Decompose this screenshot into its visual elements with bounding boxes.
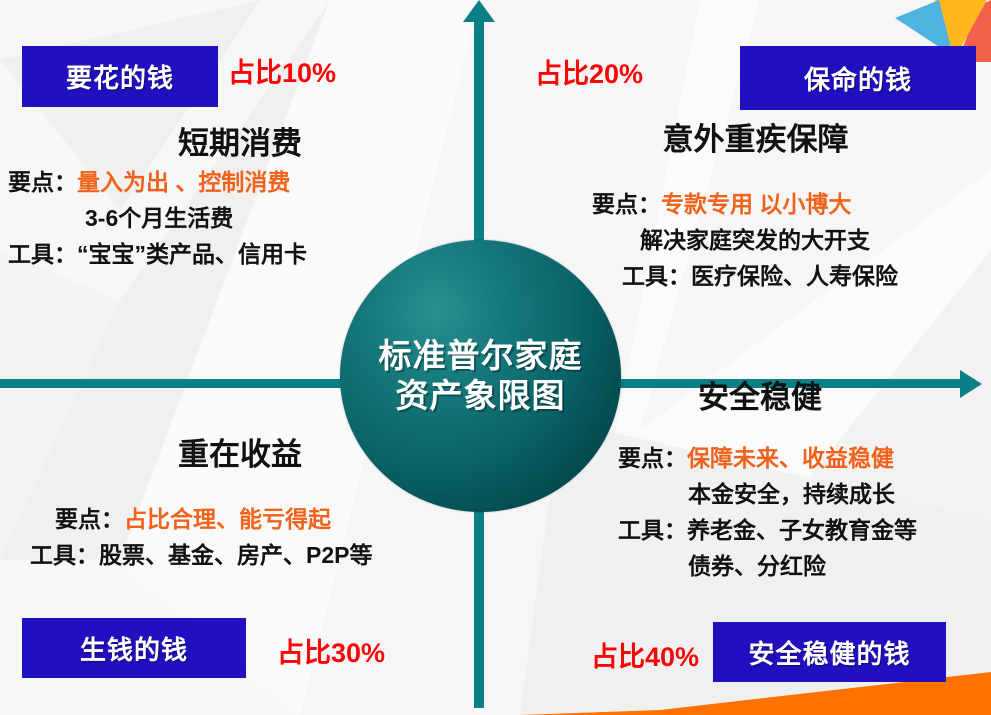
row-label: 要点： bbox=[618, 445, 687, 471]
row-value: 养老金、子女教育金等 bbox=[687, 517, 917, 543]
row-label: 工具： bbox=[8, 241, 77, 267]
quadrant-row: 要点：占比合理、能亏得起 bbox=[0, 501, 470, 537]
center-title-line2: 资产象限图 bbox=[396, 376, 566, 416]
slide-canvas: 要花的钱 占比10% 短期消费 要点：量入为出 、控制消费 3-6个月生活费 工… bbox=[0, 0, 991, 715]
badge-bottom-left[interactable]: 生钱的钱 bbox=[22, 618, 246, 678]
row-label: 要点： bbox=[8, 169, 77, 195]
quadrant-row: 工具：养老金、子女教育金等 bbox=[500, 512, 991, 548]
quadrant-row: 债券、分红险 bbox=[500, 548, 991, 584]
quadrant-title-top-left: 短期消费 bbox=[0, 124, 470, 164]
quadrant-row: 解决家庭突发的大开支 bbox=[500, 222, 991, 258]
quadrant-row: 要点：专款专用 以小博大 bbox=[500, 186, 991, 222]
row-value: 医疗保险、人寿保险 bbox=[691, 263, 898, 289]
row-label: 工具： bbox=[622, 263, 691, 289]
badge-top-left[interactable]: 要花的钱 bbox=[22, 46, 218, 107]
row-label: 要点： bbox=[55, 506, 124, 532]
center-sphere: 标准普尔家庭 资产象限图 bbox=[340, 240, 621, 512]
quadrant-top-right: 意外重疾保障 要点：专款专用 以小博大 解决家庭突发的大开支 工具：医疗保险、人… bbox=[500, 120, 991, 294]
quadrant-row: 3-6个月生活费 bbox=[0, 200, 470, 236]
row-value: 本金安全，持续成长 bbox=[688, 481, 895, 507]
row-value: 3-6个月生活费 bbox=[85, 205, 233, 231]
row-label: 工具： bbox=[30, 542, 99, 568]
percent-bottom-left: 占比30% bbox=[277, 631, 385, 670]
row-value: 专款专用 以小博大 bbox=[661, 191, 851, 217]
row-label: 要点： bbox=[592, 191, 661, 217]
row-value: “宝宝”类产品、信用卡 bbox=[77, 241, 307, 267]
row-value: 债券、分红险 bbox=[688, 553, 826, 579]
quadrant-top-left: 短期消费 要点：量入为出 、控制消费 3-6个月生活费 工具：“宝宝”类产品、信… bbox=[0, 124, 470, 272]
percent-top-right: 占比20% bbox=[535, 52, 643, 91]
percent-bottom-right: 占比40% bbox=[591, 635, 699, 674]
quadrant-row: 工具：股票、基金、房产、P2P等 bbox=[0, 537, 470, 573]
row-value: 占比合理、能亏得起 bbox=[124, 506, 331, 532]
row-value: 保障未来、收益稳健 bbox=[687, 445, 894, 471]
percent-top-left: 占比10% bbox=[228, 51, 336, 90]
quadrant-title-top-right: 意外重疾保障 bbox=[500, 120, 991, 160]
quadrant-row: 本金安全，持续成长 bbox=[500, 476, 991, 512]
row-value: 股票、基金、房产、P2P等 bbox=[99, 542, 372, 568]
row-label: 工具： bbox=[618, 517, 687, 543]
badge-bottom-right[interactable]: 安全稳健的钱 bbox=[713, 622, 946, 682]
row-value: 解决家庭突发的大开支 bbox=[640, 227, 870, 253]
quadrant-row: 要点：量入为出 、控制消费 bbox=[0, 164, 470, 200]
badge-top-right[interactable]: 保命的钱 bbox=[740, 46, 976, 110]
vertical-axis-arrow-icon bbox=[463, 0, 495, 22]
center-title-line1: 标准普尔家庭 bbox=[379, 336, 583, 376]
row-value: 量入为出 、控制消费 bbox=[77, 169, 290, 195]
